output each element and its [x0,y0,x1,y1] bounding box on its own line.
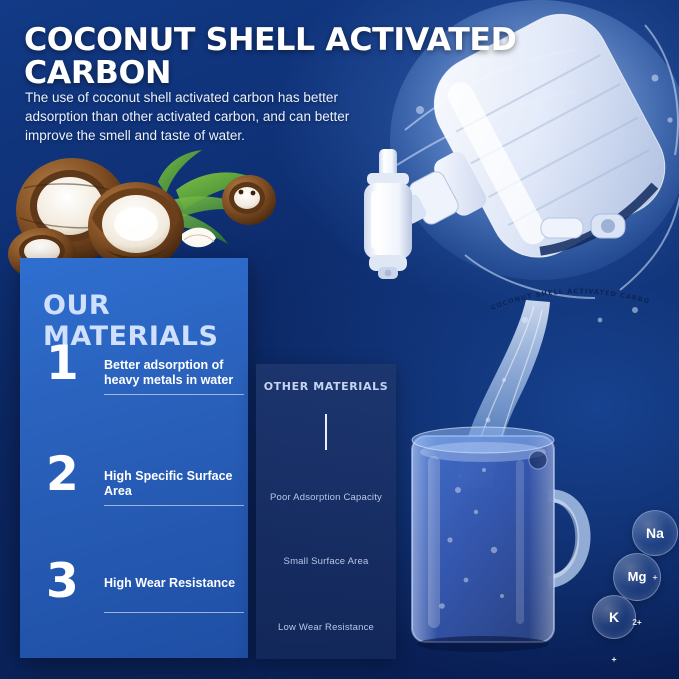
ion-bubble-na: Na+ [632,510,678,556]
item-number: 1 [46,340,79,387]
our-materials-item-2: 2 High Specific Surface Area [42,461,242,533]
other-materials-title: OTHER MATERIALS [256,380,396,393]
item-divider [104,505,244,506]
item-number: 2 [46,451,79,498]
other-materials-bar [325,414,327,450]
ion-label: Na [633,511,677,555]
other-materials-item-3: Low Wear Resistance [256,622,396,633]
our-materials-panel: OUR MATERIALS 1 Better adsorption of hea… [20,258,248,658]
glass-cup-illustration [398,400,598,655]
other-materials-item-1: Poor Adsorption Capacity [256,492,396,503]
page-description: The use of coconut shell activated carbo… [25,88,385,145]
item-divider [104,612,244,613]
ion-charge: + [611,654,616,664]
promo-image: COCONUT SHELL ACTIVATED CARBON COCONUT S… [0,0,679,679]
filter-cartridge-icon [355,147,421,282]
item-text: High Specific Surface Area [104,469,244,499]
ion-label: K [593,596,635,638]
ion-label: Mg [614,554,660,600]
other-materials-panel: OTHER MATERIALS Poor Adsorption Capacity… [256,364,396,659]
ion-bubble-k: K+ [592,595,636,639]
our-materials-item-1: 1 Better adsorption of heavy metals in w… [42,350,242,422]
other-materials-item-2: Small Surface Area [256,556,396,567]
item-text: Better adsorption of heavy metals in wat… [104,358,244,388]
our-materials-item-3: 3 High Wear Resistance [42,568,242,640]
ion-bubble-mg: Mg2+ [613,553,661,601]
item-number: 3 [46,558,79,605]
item-text: High Wear Resistance [104,576,244,591]
page-title: COCONUT SHELL ACTIVATED CARBON [24,24,636,89]
item-divider [104,394,244,395]
